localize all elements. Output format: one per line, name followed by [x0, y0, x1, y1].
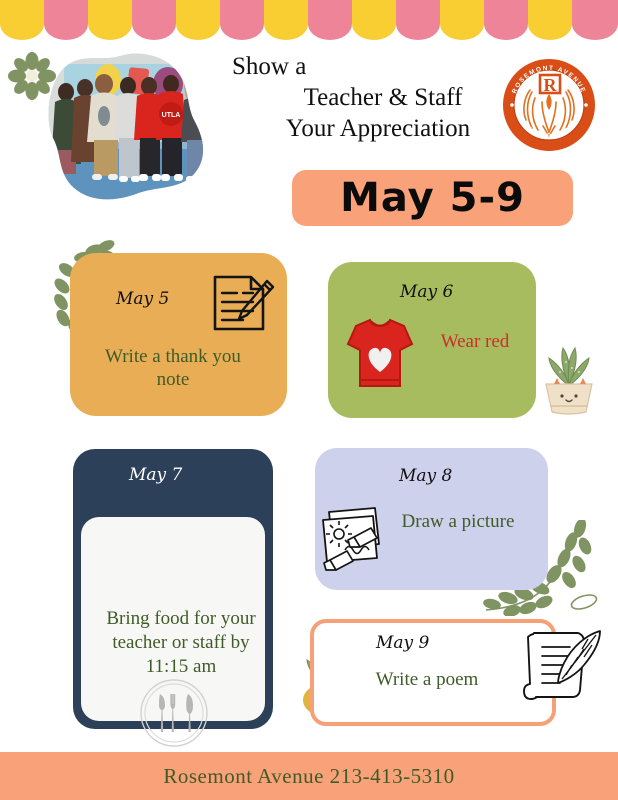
task-text-may-5: Write a thank you note — [88, 345, 258, 391]
day-label-may-8: May 8 — [399, 466, 452, 486]
task-text-may-9: Write a poem — [352, 668, 502, 691]
day-label-may-6: May 6 — [400, 282, 453, 302]
task-text-may-6: Wear red — [416, 330, 534, 353]
red-tshirt-with-heart-icon — [344, 314, 416, 392]
card-may-6: May 6 Wear red — [328, 262, 536, 418]
day-label-may-9: May 9 — [376, 633, 429, 653]
svg-text:UTLA: UTLA — [162, 112, 181, 119]
headline-line-2: Teacher & Staff — [228, 82, 498, 113]
staff-photo: UTLA — [36, 46, 216, 206]
card-may-7: May 7 Bring food for your teacher or sta… — [73, 449, 273, 729]
plate-cutlery-icon — [138, 677, 210, 749]
headline-line-1: Show a — [228, 52, 498, 82]
logo-monogram: R — [544, 75, 558, 95]
date-range-banner: May 5-9 — [292, 170, 573, 226]
potted-plant-icon — [536, 342, 602, 416]
date-range-text: May 5-9 — [340, 178, 525, 218]
footer-contact-text: Rosemont Avenue 213-413-5310 — [163, 764, 454, 789]
task-text-may-7: Bring food for your teacher or staff by … — [93, 607, 269, 679]
card-may-8: May 8 Draw a picture — [315, 448, 548, 590]
day-label-may-7: May 7 — [129, 465, 182, 485]
task-text-may-8: Draw a picture — [373, 510, 543, 533]
scroll-and-quill-icon — [516, 625, 604, 707]
page-title: Show a Teacher & Staff Your Appreciation — [228, 52, 498, 144]
school-logo: R ROSEMONT AVENUE ELEMENTARY SCHOOL — [502, 58, 596, 152]
headline-line-3: Your Appreciation — [228, 113, 498, 144]
card-may-5: May 5 Write a thank you note — [70, 253, 287, 416]
note-and-pencil-icon — [207, 273, 275, 335]
day-label-may-5: May 5 — [116, 289, 169, 309]
footer-bar: Rosemont Avenue 213-413-5310 — [0, 752, 618, 800]
scallop-top-border — [0, 0, 618, 42]
card-may-7-inner-panel: Bring food for your teacher or staff by … — [81, 517, 265, 721]
